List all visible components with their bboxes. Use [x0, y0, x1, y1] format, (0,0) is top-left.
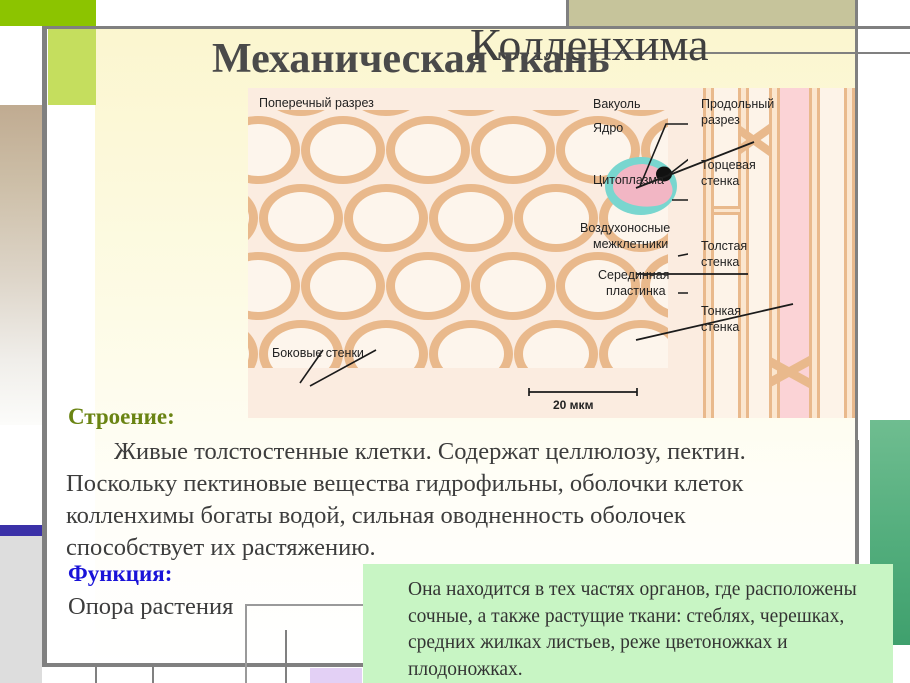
structure-text: Живые толстостенные клетки. Содержат цел…: [66, 436, 806, 563]
label-vacuole: Вакуоль: [593, 97, 640, 112]
function-text: Опора растения: [68, 593, 233, 621]
label-thick-wall-line1: Толстая: [701, 239, 747, 254]
label-scale-bar: 20 мкм: [553, 398, 593, 412]
decor-gray-block-bottom-left: [0, 536, 42, 683]
divider-vertical-left: [42, 26, 47, 667]
divider-vertical-bottom-a: [285, 630, 287, 683]
page-title: Механическая ткань: [212, 35, 610, 83]
callout-box: Она находится в тех частях органов, где …: [363, 564, 893, 683]
decor-blue-bar: [0, 525, 42, 536]
label-thick-wall-line2: стенка: [701, 255, 739, 270]
label-thin-wall-line1: Тонкая: [701, 304, 741, 319]
slide-canvas: Колленхима Механическая ткань: [0, 0, 910, 683]
label-longitudinal-line1: Продольный: [701, 97, 774, 112]
collenchyma-diagram: Поперечный разрез Вакуоль Ядро Цитоплазм…: [248, 88, 855, 418]
label-cross-section: Поперечный разрез: [259, 96, 374, 111]
callout-connector-vertical: [245, 604, 247, 683]
label-cytoplasm: Цитоплазма: [593, 173, 664, 188]
divider-vertical-right-upper: [855, 0, 858, 440]
label-thin-wall-line2: стенка: [701, 320, 739, 335]
label-nucleus: Ядро: [593, 121, 623, 136]
label-middle-lamella-line1: Серединная: [598, 268, 669, 283]
callout-text: Она находится в тех частях органов, где …: [363, 564, 893, 683]
divider-vertical-bottom-c: [152, 667, 154, 683]
decor-green-block-top-left: [0, 0, 96, 26]
label-end-wall-line1: Торцевая: [701, 158, 756, 173]
label-side-walls: Боковые стенки: [272, 346, 364, 361]
function-heading: Функция:: [68, 561, 172, 587]
label-air-spaces-line2: межклетники: [593, 237, 668, 252]
decor-lightgreen-square: [48, 28, 96, 105]
decor-white-block-left: [0, 27, 42, 105]
label-middle-lamella-line2: пластинка: [606, 284, 666, 299]
callout-connector-horizontal: [245, 604, 380, 606]
divider-vertical-bottom-b: [95, 663, 97, 683]
label-end-wall-line2: стенка: [701, 174, 739, 189]
label-air-spaces-line1: Воздухоносные: [580, 221, 670, 236]
structure-heading: Строение:: [68, 404, 175, 430]
decor-tan-gradient-strip: [0, 105, 42, 425]
label-longitudinal-line2: разрез: [701, 113, 740, 128]
decor-lavender-block: [310, 668, 362, 683]
